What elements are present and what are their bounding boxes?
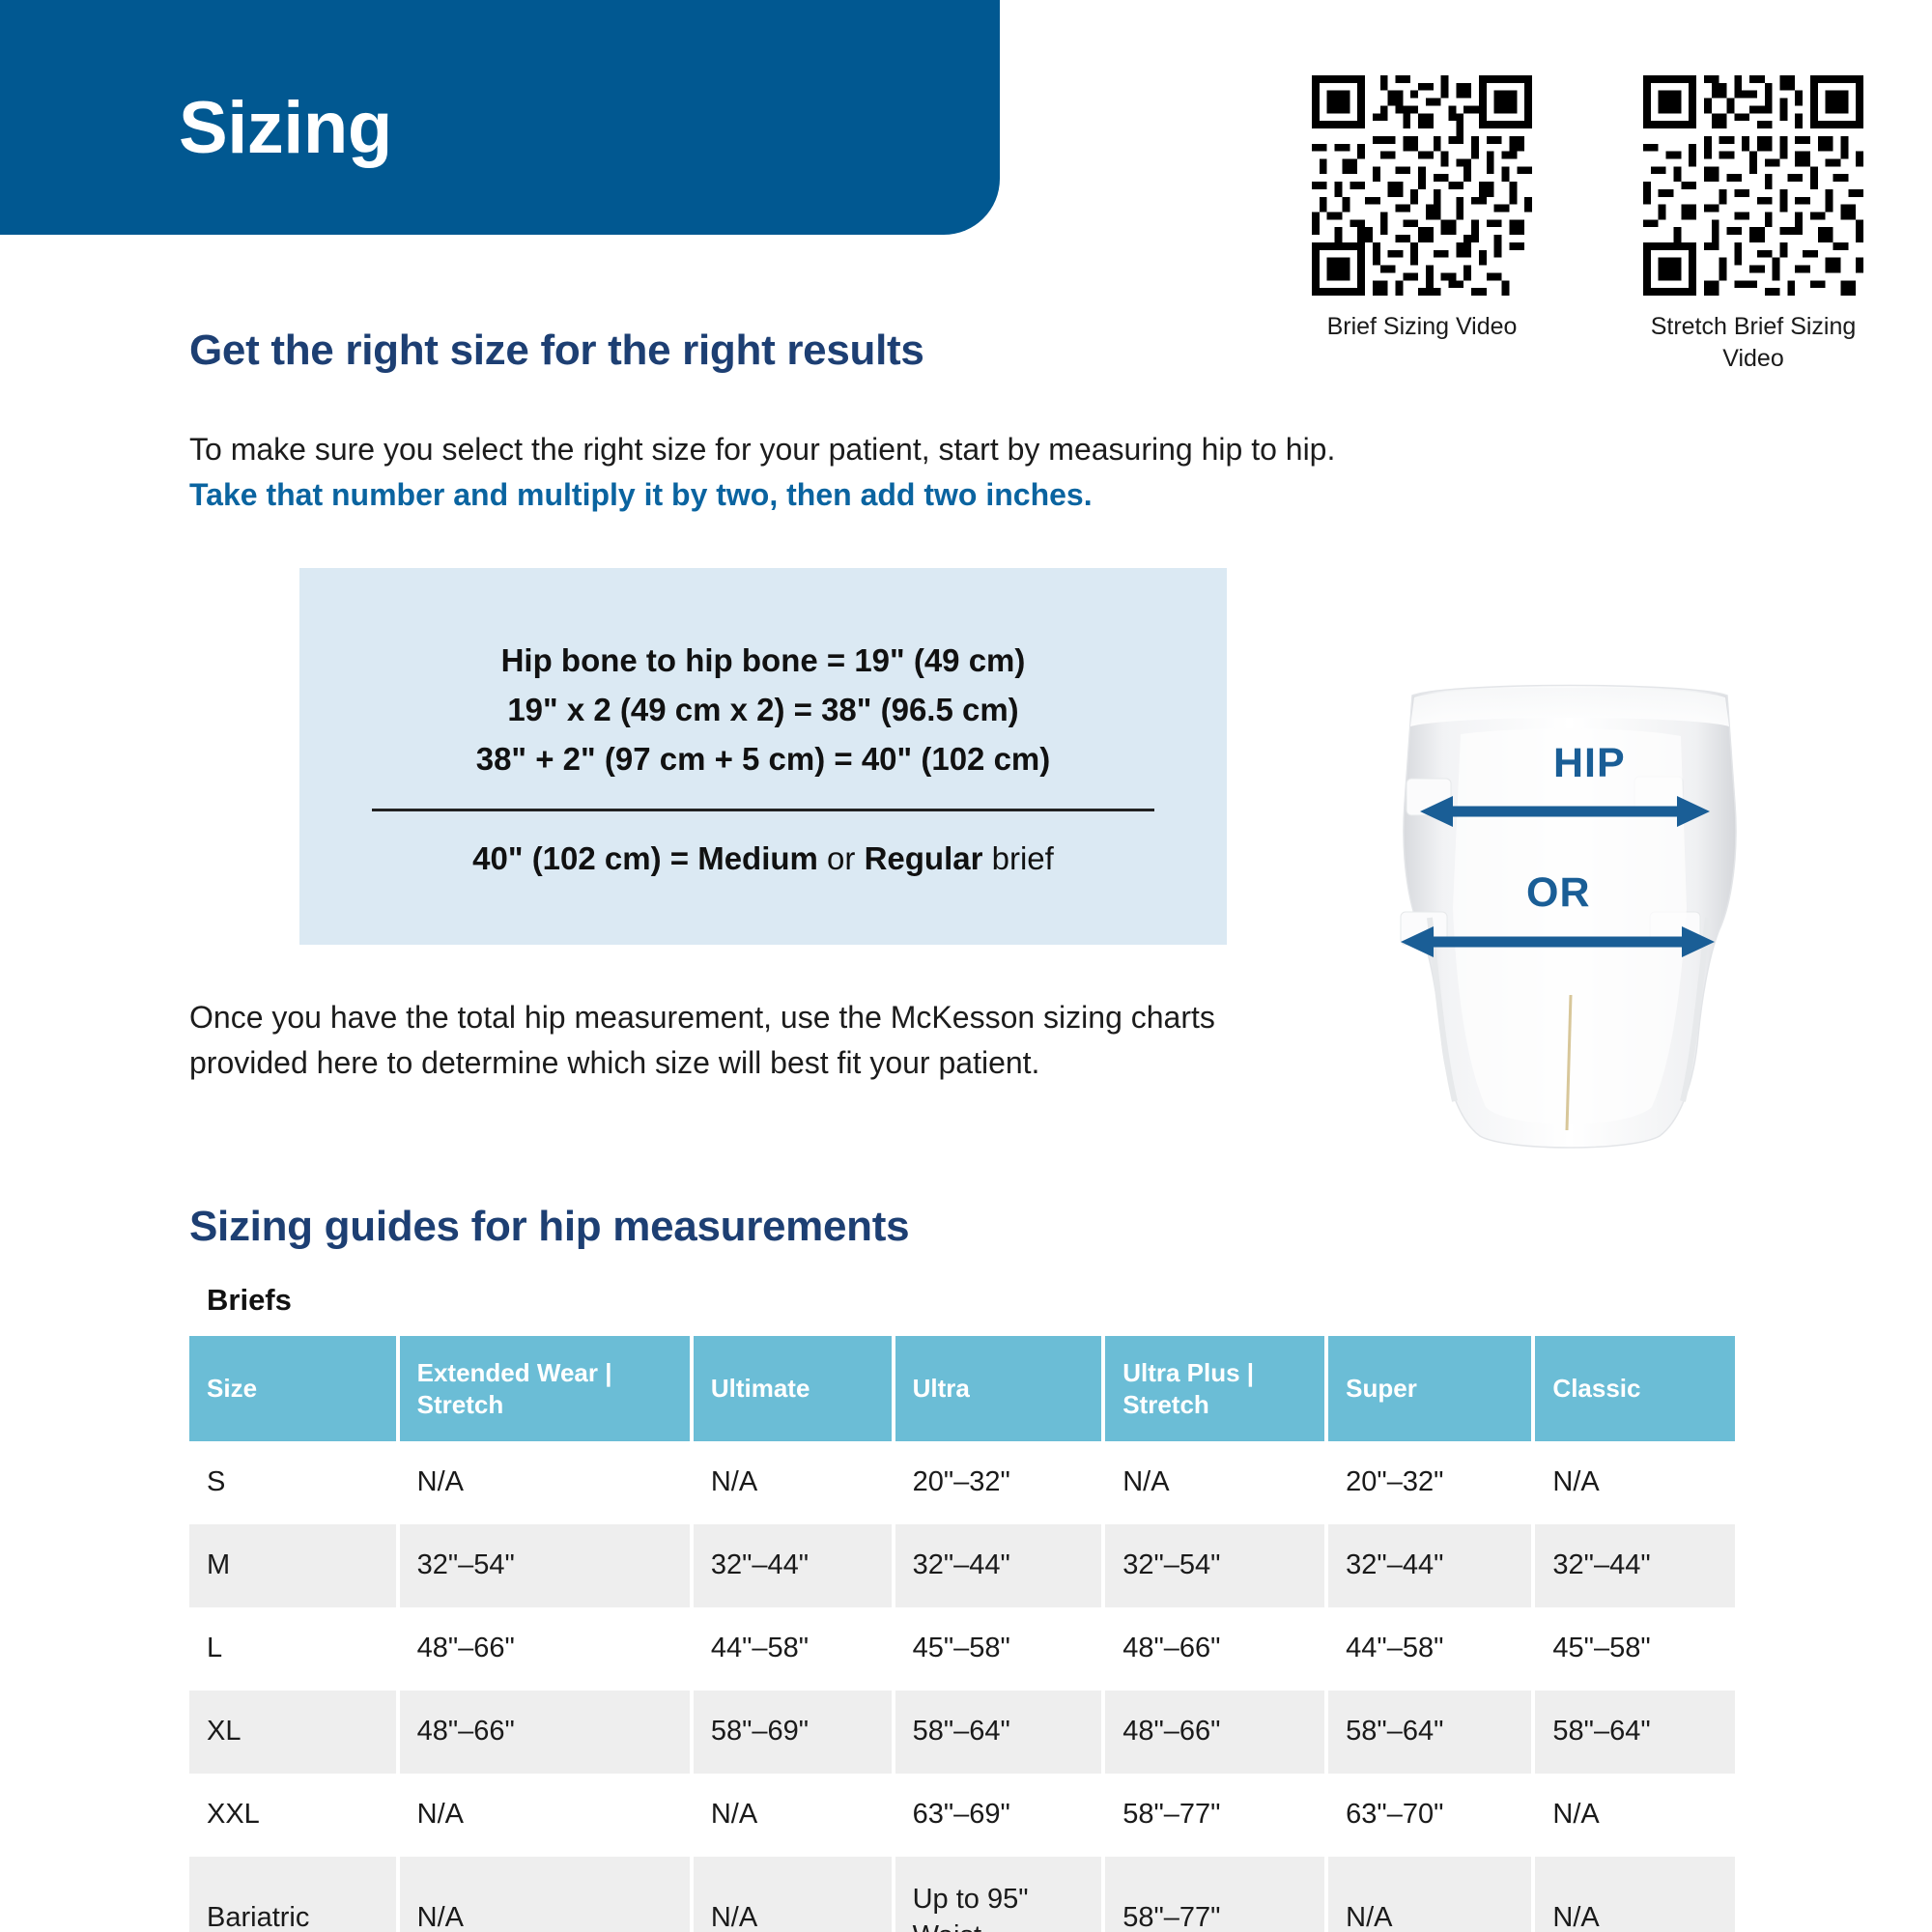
calc-result-conjunction: or <box>818 840 865 876</box>
col-header-ultra: Ultra <box>895 1336 1106 1441</box>
cell-ultraplus: 48"–66" <box>1105 1690 1328 1774</box>
intro-paragraph-plain: To make sure you select the right size f… <box>189 432 1335 467</box>
intro-paragraph-emphasis: Take that number and multiply it by two,… <box>189 477 1093 512</box>
calc-line-3: 38" + 2" (97 cm + 5 cm) = 40" (102 cm) <box>476 734 1051 783</box>
hip-label: HIP <box>1553 740 1626 787</box>
qr-caption-stretch-brief: Stretch Brief Sizing Video <box>1623 311 1884 374</box>
col-header-super: Super <box>1328 1336 1535 1441</box>
calc-result-size-regular: Regular <box>865 840 983 876</box>
table-label-briefs: Briefs <box>207 1283 292 1318</box>
page-title: Sizing <box>179 92 392 165</box>
calc-result-prefix: 40" (102 cm) = <box>472 840 697 876</box>
cell-extended: N/A <box>400 1441 694 1524</box>
table-header: Size Extended Wear | Stretch Ultimate Ul… <box>189 1336 1735 1441</box>
cell-classic: N/A <box>1535 1857 1735 1932</box>
header-banner: Sizing <box>0 0 1000 235</box>
cell-extended: 48"–66" <box>400 1607 694 1690</box>
col-header-classic: Classic <box>1535 1336 1735 1441</box>
cell-ultra: Up to 95" Waist <box>895 1857 1106 1932</box>
cell-ultraplus: 58"–77" <box>1105 1857 1328 1932</box>
cell-size: M <box>189 1524 400 1607</box>
table-row: S N/A N/A 20"–32" N/A 20"–32" N/A <box>189 1441 1735 1524</box>
cell-ultimate: N/A <box>694 1441 895 1524</box>
cell-super: 44"–58" <box>1328 1607 1535 1690</box>
hip-measure-arrow-upper <box>1420 792 1710 831</box>
or-label: OR <box>1526 869 1591 917</box>
col-header-extended-wear-stretch: Extended Wear | Stretch <box>400 1336 694 1441</box>
table-row: M 32"–54" 32"–44" 32"–44" 32"–54" 32"–44… <box>189 1524 1735 1607</box>
calc-line-2: 19" x 2 (49 cm x 2) = 38" (96.5 cm) <box>507 685 1018 734</box>
section-heading-sizing-guides: Sizing guides for hip measurements <box>189 1203 909 1251</box>
calc-line-1: Hip bone to hip bone = 19" (49 cm) <box>501 636 1026 685</box>
cell-ultra: 32"–44" <box>895 1524 1106 1607</box>
cell-super: 32"–44" <box>1328 1524 1535 1607</box>
col-header-size: Size <box>189 1336 400 1441</box>
table-body: S N/A N/A 20"–32" N/A 20"–32" N/A M 32"–… <box>189 1441 1735 1932</box>
hip-measure-arrow-lower <box>1401 923 1715 961</box>
briefs-sizing-table: Size Extended Wear | Stretch Ultimate Ul… <box>189 1336 1735 1932</box>
cell-super: N/A <box>1328 1857 1535 1932</box>
cell-extended: N/A <box>400 1857 694 1932</box>
cell-size: XXL <box>189 1774 400 1857</box>
qr-caption-brief: Brief Sizing Video <box>1292 311 1552 343</box>
table-header-row: Size Extended Wear | Stretch Ultimate Ul… <box>189 1336 1735 1441</box>
table-row: Bariatric N/A N/A Up to 95" Waist 58"–77… <box>189 1857 1735 1932</box>
cell-ultimate: N/A <box>694 1774 895 1857</box>
cell-ultraplus: 58"–77" <box>1105 1774 1328 1857</box>
calculation-example-box: Hip bone to hip bone = 19" (49 cm) 19" x… <box>299 568 1227 945</box>
qr-code-icon <box>1312 75 1532 296</box>
qr-code-icon <box>1643 75 1863 296</box>
cell-size: Bariatric <box>189 1857 400 1932</box>
cell-size: XL <box>189 1690 400 1774</box>
cell-classic: 32"–44" <box>1535 1524 1735 1607</box>
cell-classic: 58"–64" <box>1535 1690 1735 1774</box>
cell-ultra: 45"–58" <box>895 1607 1106 1690</box>
cell-extended: 32"–54" <box>400 1524 694 1607</box>
intro-paragraph: To make sure you select the right size f… <box>189 427 1387 519</box>
calc-result-suffix: brief <box>982 840 1053 876</box>
table-row: XL 48"–66" 58"–69" 58"–64" 48"–66" 58"–6… <box>189 1690 1735 1774</box>
table-row: XXL N/A N/A 63"–69" 58"–77" 63"–70" N/A <box>189 1774 1735 1857</box>
cell-size: L <box>189 1607 400 1690</box>
sizing-document-page: Sizing <box>0 0 1932 1932</box>
cell-super: 20"–32" <box>1328 1441 1535 1524</box>
cell-ultimate: 44"–58" <box>694 1607 895 1690</box>
cell-ultra: 20"–32" <box>895 1441 1106 1524</box>
table-row: L 48"–66" 44"–58" 45"–58" 48"–66" 44"–58… <box>189 1607 1735 1690</box>
calc-divider <box>372 809 1154 811</box>
cell-extended: 48"–66" <box>400 1690 694 1774</box>
cell-extended: N/A <box>400 1774 694 1857</box>
cell-ultraplus: N/A <box>1105 1441 1328 1524</box>
cell-ultra: 63"–69" <box>895 1774 1106 1857</box>
cell-super: 63"–70" <box>1328 1774 1535 1857</box>
col-header-ultra-plus-stretch: Ultra Plus | Stretch <box>1105 1336 1328 1441</box>
calc-result: 40" (102 cm) = Medium or Regular brief <box>472 840 1054 877</box>
calc-result-size-medium: Medium <box>697 840 818 876</box>
product-illustration: HIP OR <box>1391 676 1748 1150</box>
second-paragraph: Once you have the total hip measurement,… <box>189 995 1320 1087</box>
cell-ultraplus: 32"–54" <box>1105 1524 1328 1607</box>
cell-super: 58"–64" <box>1328 1690 1535 1774</box>
cell-classic: N/A <box>1535 1441 1735 1524</box>
cell-ultimate: 32"–44" <box>694 1524 895 1607</box>
cell-classic: N/A <box>1535 1774 1735 1857</box>
qr-code-stretch-brief-sizing-video[interactable]: Stretch Brief Sizing Video <box>1623 75 1884 374</box>
qr-code-brief-sizing-video[interactable]: Brief Sizing Video <box>1292 75 1552 343</box>
cell-classic: 45"–58" <box>1535 1607 1735 1690</box>
cell-ultra: 58"–64" <box>895 1690 1106 1774</box>
cell-ultimate: 58"–69" <box>694 1690 895 1774</box>
cell-size: S <box>189 1441 400 1524</box>
section-heading-right-size: Get the right size for the right results <box>189 327 924 375</box>
cell-ultimate: N/A <box>694 1857 895 1932</box>
col-header-ultimate: Ultimate <box>694 1336 895 1441</box>
cell-ultraplus: 48"–66" <box>1105 1607 1328 1690</box>
